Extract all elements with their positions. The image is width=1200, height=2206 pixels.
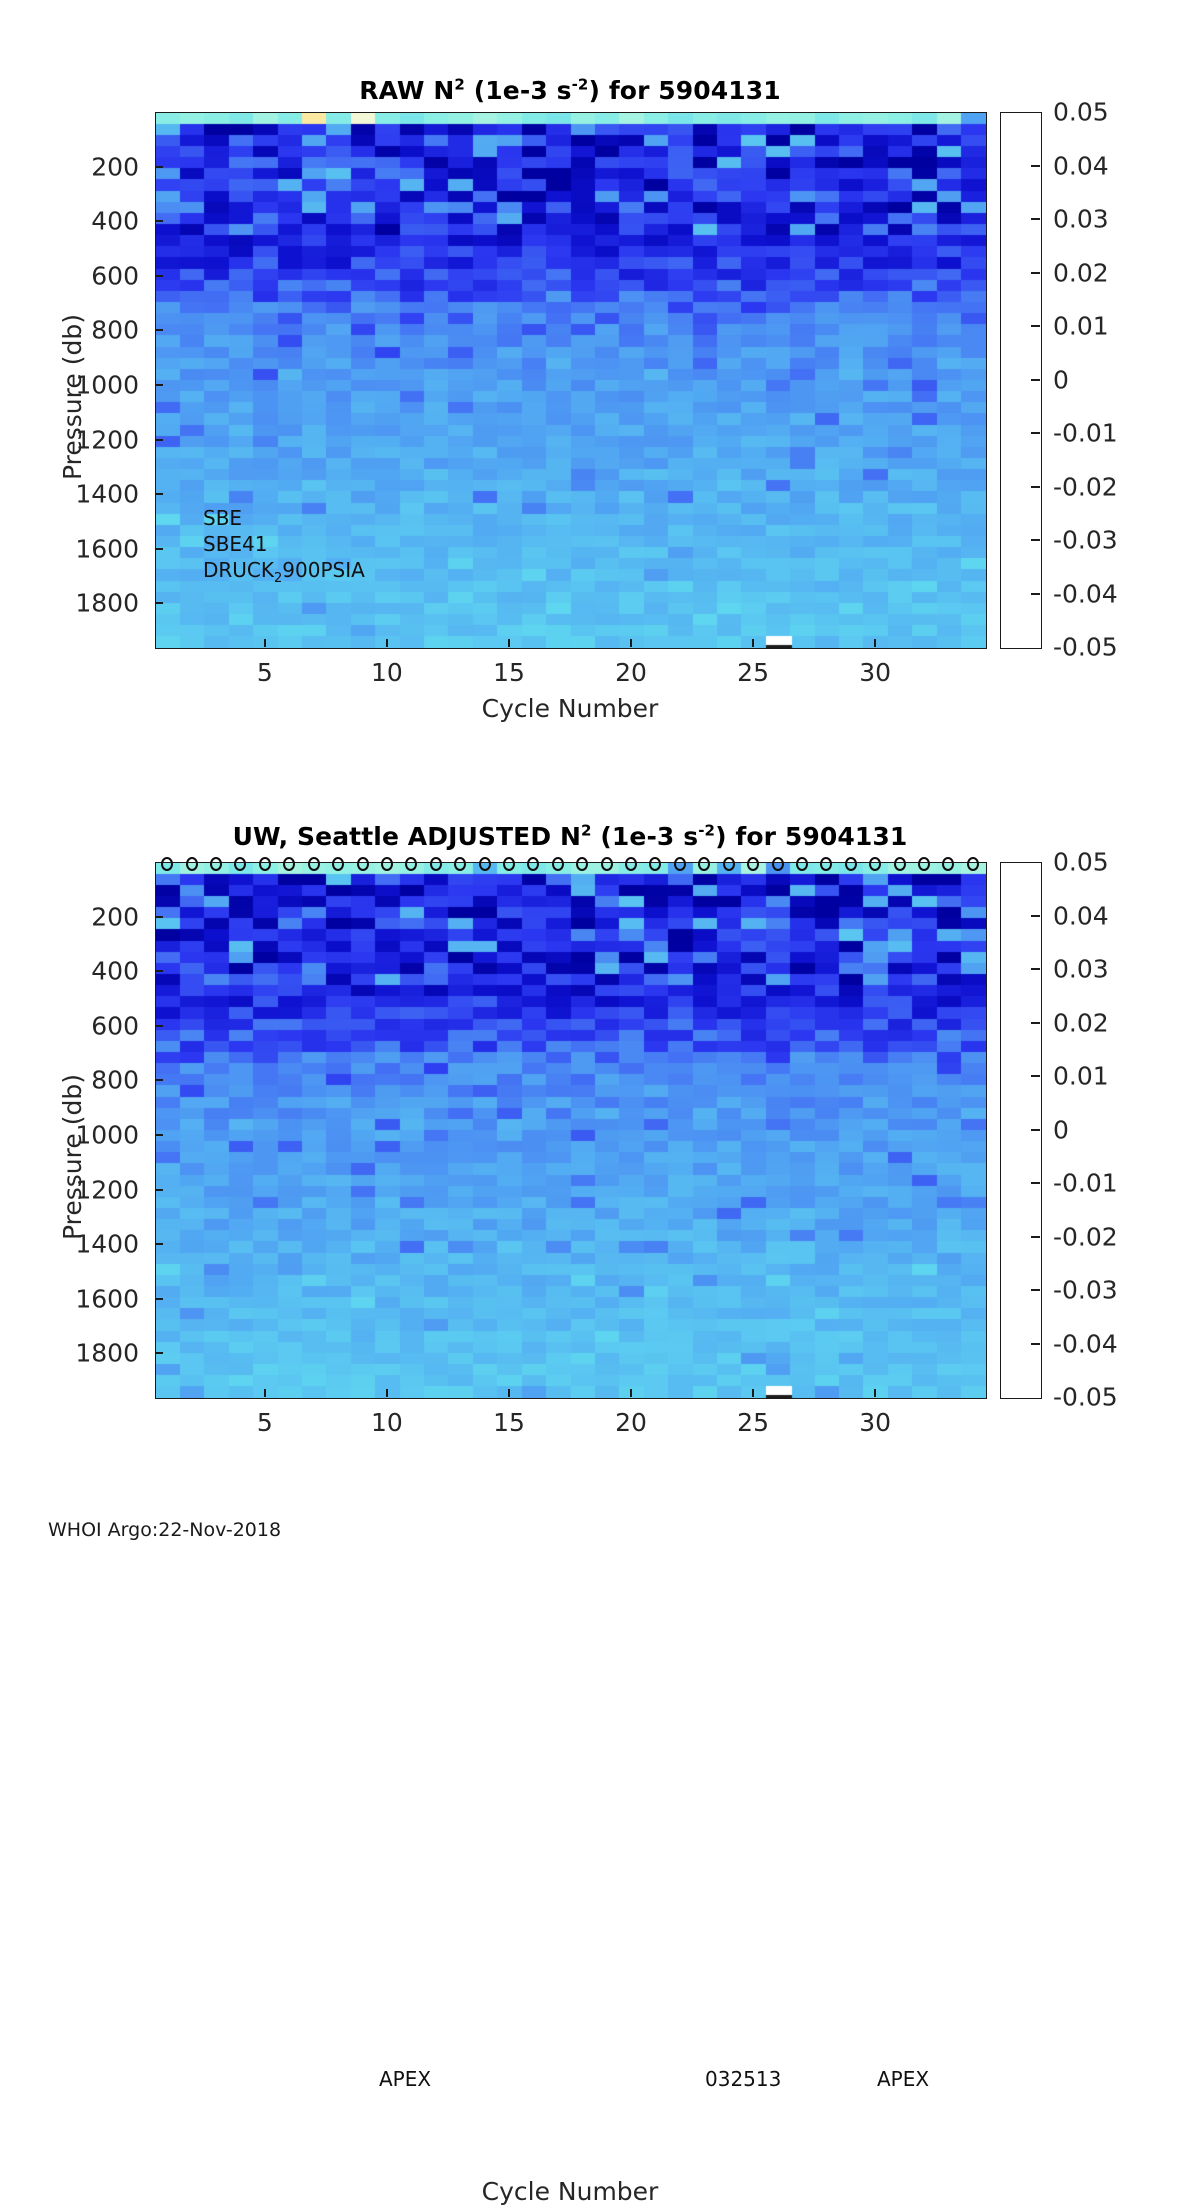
profile-marker-cycle-5[interactable] — [259, 857, 271, 871]
profile-marker-cycle-9[interactable] — [357, 857, 369, 871]
ytick-label-raw-200: 200 — [27, 152, 139, 181]
profile-marker-cycle-10[interactable] — [381, 857, 393, 871]
profile-marker-cycle-34[interactable] — [967, 857, 979, 871]
ytick-mark-raw-800 — [155, 329, 163, 331]
annotation-sensor-raw: SBE SBE41 DRUCK2900PSIA — [203, 505, 365, 583]
colorbar-tick-adjusted-8 — [1031, 1289, 1040, 1291]
ytick-label-adjusted-1800: 1800 — [27, 1339, 139, 1368]
colorbar-tick-adjusted-1 — [1031, 915, 1040, 917]
ytick-label-raw-600: 600 — [27, 261, 139, 290]
ytick-label-adjusted-400: 400 — [27, 957, 139, 986]
xtick-label-raw-5: 5 — [257, 658, 273, 687]
profile-marker-cycle-17[interactable] — [552, 857, 564, 871]
ytick-label-raw-1200: 1200 — [27, 425, 139, 454]
colorbar-tick-label-raw-8: -0.03 — [1053, 526, 1118, 555]
xtick-mark-raw-5 — [264, 639, 266, 647]
panel-raw-title-sup2: -2 — [572, 76, 589, 94]
profile-marker-cycle-25[interactable] — [747, 857, 759, 871]
colorbar-tick-label-raw-1: 0.04 — [1053, 151, 1109, 180]
panel-adjusted-xlabel: Cycle Number — [155, 2177, 985, 2206]
profile-marker-cycle-22[interactable] — [674, 857, 686, 871]
ytick-mark-adjusted-1200 — [155, 1189, 163, 1191]
colorbar-tick-adjusted-2 — [1031, 968, 1040, 970]
colorbar-tick-label-adjusted-5: 0 — [1053, 1115, 1069, 1144]
profile-marker-cycle-20[interactable] — [625, 857, 637, 871]
profile-marker-cycle-16[interactable] — [527, 857, 539, 871]
annotation-druck: DRUCK2900PSIA — [203, 557, 365, 583]
ytick-label-adjusted-200: 200 — [27, 902, 139, 931]
ytick-label-raw-1600: 1600 — [27, 534, 139, 563]
annotation-apex-left: APEX — [379, 2066, 431, 2092]
annotation-druck-b: 900PSIA — [282, 558, 365, 582]
xtick-mark-adjusted-5 — [264, 1389, 266, 1397]
colorbar-tick-raw-5 — [1031, 379, 1040, 381]
annotation-sbe41: SBE41 — [203, 531, 365, 557]
panel-adjusted-title-suffix: ) for 5904131 — [715, 822, 907, 851]
xtick-label-adjusted-20: 20 — [615, 1408, 647, 1437]
colorbar-adjusted — [1000, 862, 1042, 1399]
colorbar-tick-label-adjusted-4: 0.01 — [1053, 1062, 1109, 1091]
panel-raw-title-prefix: RAW N — [359, 76, 454, 105]
profile-marker-cycle-4[interactable] — [234, 857, 246, 871]
profile-marker-cycle-14[interactable] — [479, 857, 491, 871]
colorbar-tick-raw-6 — [1031, 432, 1040, 434]
ytick-mark-raw-1800 — [155, 602, 163, 604]
colorbar-tick-label-adjusted-8: -0.03 — [1053, 1276, 1118, 1305]
profile-marker-cycle-31[interactable] — [894, 857, 906, 871]
ytick-mark-adjusted-1800 — [155, 1352, 163, 1354]
panel-adjusted-ylabel: Pressure (db) — [58, 1074, 87, 1240]
xtick-mark-raw-25 — [752, 639, 754, 647]
ytick-mark-adjusted-800 — [155, 1079, 163, 1081]
profile-marker-cycle-7[interactable] — [308, 857, 320, 871]
profile-marker-cycle-24[interactable] — [723, 857, 735, 871]
panel-raw-title-suffix: ) for 5904131 — [588, 76, 780, 105]
colorbar-tick-label-adjusted-3: 0.02 — [1053, 1008, 1109, 1037]
colorbar-tick-label-adjusted-0: 0.05 — [1053, 848, 1109, 877]
colorbar-gradient-raw — [1001, 113, 1041, 648]
profile-marker-cycle-29[interactable] — [845, 857, 857, 871]
colorbar-tick-raw-7 — [1031, 486, 1040, 488]
colorbar-tick-label-raw-9: -0.04 — [1053, 579, 1118, 608]
ytick-label-adjusted-1000: 1000 — [27, 1120, 139, 1149]
profile-marker-cycle-2[interactable] — [186, 857, 198, 871]
panel-raw-title: RAW N2 (1e-3 s-2) for 5904131 — [0, 76, 1140, 105]
profile-marker-cycle-23[interactable] — [698, 857, 710, 871]
figure-footer: WHOI Argo:22-Nov-2018 — [48, 1519, 281, 1541]
profile-marker-cycle-21[interactable] — [649, 857, 661, 871]
profile-marker-cycle-1[interactable] — [161, 857, 173, 871]
ytick-mark-adjusted-1400 — [155, 1243, 163, 1245]
ytick-mark-adjusted-600 — [155, 1025, 163, 1027]
colorbar-tick-label-raw-10: -0.05 — [1053, 633, 1118, 662]
annotation-druck-a: DRUCK — [203, 558, 274, 582]
colorbar-tick-adjusted-6 — [1031, 1182, 1040, 1184]
colorbar-tick-raw-9 — [1031, 593, 1040, 595]
panel-raw-xlabel: Cycle Number — [155, 694, 985, 723]
panel-adjusted-plot-area — [155, 862, 987, 1399]
xtick-label-raw-10: 10 — [371, 658, 403, 687]
ytick-label-raw-400: 400 — [27, 207, 139, 236]
profile-marker-cycle-11[interactable] — [405, 857, 417, 871]
colorbar-tick-raw-8 — [1031, 539, 1040, 541]
profile-marker-cycle-32[interactable] — [918, 857, 930, 871]
ytick-label-raw-800: 800 — [27, 316, 139, 345]
xtick-label-raw-30: 30 — [859, 658, 891, 687]
colorbar-tick-label-adjusted-9: -0.04 — [1053, 1329, 1118, 1358]
xtick-mark-adjusted-20 — [630, 1389, 632, 1397]
panel-raw: RAW N2 (1e-3 s-2) for 5904131 Pressure (… — [0, 0, 1200, 740]
xtick-mark-raw-15 — [508, 639, 510, 647]
ytick-mark-raw-200 — [155, 166, 163, 168]
xtick-label-adjusted-10: 10 — [371, 1408, 403, 1437]
panel-adjusted: UW, Seattle ADJUSTED N2 (1e-3 s-2) for 5… — [0, 740, 1200, 1510]
colorbar-tick-label-adjusted-6: -0.01 — [1053, 1169, 1118, 1198]
ytick-mark-raw-1000 — [155, 384, 163, 386]
colorbar-tick-raw-1 — [1031, 165, 1040, 167]
xtick-label-adjusted-30: 30 — [859, 1408, 891, 1437]
profile-marker-cycle-19[interactable] — [601, 857, 613, 871]
xtick-label-raw-25: 25 — [737, 658, 769, 687]
xtick-mark-adjusted-15 — [508, 1389, 510, 1397]
xtick-mark-adjusted-10 — [386, 1389, 388, 1397]
colorbar-tick-adjusted-9 — [1031, 1343, 1040, 1345]
xtick-mark-adjusted-30 — [874, 1389, 876, 1397]
annotation-wmo-032513: 032513 — [705, 2066, 781, 2092]
ytick-label-adjusted-1600: 1600 — [27, 1284, 139, 1313]
colorbar-tick-label-adjusted-1: 0.04 — [1053, 901, 1109, 930]
colorbar-tick-raw-2 — [1031, 218, 1040, 220]
ytick-mark-adjusted-200 — [155, 916, 163, 918]
panel-adjusted-title-mid: (1e-3 s — [592, 822, 699, 851]
profile-marker-cycle-26[interactable] — [772, 857, 784, 871]
profile-marker-cycle-6[interactable] — [283, 857, 295, 871]
colorbar-tick-label-raw-3: 0.02 — [1053, 258, 1109, 287]
colorbar-tick-label-raw-6: -0.01 — [1053, 419, 1118, 448]
profile-marker-cycle-28[interactable] — [820, 857, 832, 871]
profile-marker-cycle-8[interactable] — [332, 857, 344, 871]
colorbar-tick-adjusted-3 — [1031, 1022, 1040, 1024]
profile-marker-cycle-12[interactable] — [430, 857, 442, 871]
profile-marker-cycle-27[interactable] — [796, 857, 808, 871]
colorbar-raw — [1000, 112, 1042, 649]
colorbar-tick-label-raw-4: 0.01 — [1053, 312, 1109, 341]
panel-raw-title-sup1: 2 — [454, 76, 465, 94]
colorbar-tick-label-raw-0: 0.05 — [1053, 98, 1109, 127]
ytick-mark-raw-1600 — [155, 548, 163, 550]
xtick-mark-raw-20 — [630, 639, 632, 647]
ytick-label-adjusted-1200: 1200 — [27, 1175, 139, 1204]
colorbar-tick-adjusted-4 — [1031, 1075, 1040, 1077]
xtick-label-raw-20: 20 — [615, 658, 647, 687]
panel-adjusted-title-sup2: -2 — [698, 822, 715, 840]
panel-raw-title-mid: (1e-3 s — [465, 76, 572, 105]
ytick-mark-raw-400 — [155, 220, 163, 222]
panel-adjusted-title: UW, Seattle ADJUSTED N2 (1e-3 s-2) for 5… — [0, 822, 1140, 851]
colorbar-tick-label-adjusted-7: -0.02 — [1053, 1222, 1118, 1251]
profile-marker-cycle-15[interactable] — [503, 857, 515, 871]
heatmap-adjusted — [156, 863, 986, 1398]
colorbar-tick-label-adjusted-2: 0.03 — [1053, 955, 1109, 984]
panel-adjusted-title-prefix: UW, Seattle ADJUSTED N — [233, 822, 581, 851]
xtick-label-adjusted-15: 15 — [493, 1408, 525, 1437]
xtick-label-raw-15: 15 — [493, 658, 525, 687]
xtick-mark-raw-30 — [874, 639, 876, 647]
colorbar-tick-label-adjusted-10: -0.05 — [1053, 1383, 1118, 1412]
profile-marker-cycle-18[interactable] — [576, 857, 588, 871]
ytick-label-adjusted-1400: 1400 — [27, 1230, 139, 1259]
ytick-mark-adjusted-400 — [155, 970, 163, 972]
colorbar-tick-label-raw-2: 0.03 — [1053, 205, 1109, 234]
profile-marker-cycle-13[interactable] — [454, 857, 466, 871]
colorbar-gradient-adjusted — [1001, 863, 1041, 1398]
xtick-mark-raw-10 — [386, 639, 388, 647]
colorbar-tick-adjusted-7 — [1031, 1236, 1040, 1238]
ytick-mark-raw-1400 — [155, 493, 163, 495]
colorbar-tick-label-raw-5: 0 — [1053, 365, 1069, 394]
profile-marker-cycle-3[interactable] — [210, 857, 222, 871]
ytick-label-adjusted-600: 600 — [27, 1011, 139, 1040]
xtick-label-adjusted-25: 25 — [737, 1408, 769, 1437]
ytick-label-raw-1000: 1000 — [27, 370, 139, 399]
ytick-mark-adjusted-1600 — [155, 1298, 163, 1300]
colorbar-tick-adjusted-5 — [1031, 1129, 1040, 1131]
ytick-label-raw-1400: 1400 — [27, 480, 139, 509]
ytick-mark-adjusted-1000 — [155, 1134, 163, 1136]
ytick-label-adjusted-800: 800 — [27, 1066, 139, 1095]
ytick-mark-raw-1200 — [155, 439, 163, 441]
profile-marker-cycle-33[interactable] — [942, 857, 954, 871]
annotation-sbe: SBE — [203, 505, 365, 531]
ytick-label-raw-1800: 1800 — [27, 589, 139, 618]
argo-n2-figure: RAW N2 (1e-3 s-2) for 5904131 Pressure (… — [0, 0, 1200, 1575]
xtick-label-adjusted-5: 5 — [257, 1408, 273, 1437]
colorbar-tick-label-raw-7: -0.02 — [1053, 472, 1118, 501]
annotation-apex-right: APEX — [877, 2066, 929, 2092]
xtick-mark-adjusted-25 — [752, 1389, 754, 1397]
panel-adjusted-title-sup1: 2 — [581, 822, 592, 840]
ytick-mark-raw-600 — [155, 275, 163, 277]
colorbar-tick-raw-4 — [1031, 325, 1040, 327]
colorbar-tick-raw-3 — [1031, 272, 1040, 274]
profile-marker-cycle-30[interactable] — [869, 857, 881, 871]
